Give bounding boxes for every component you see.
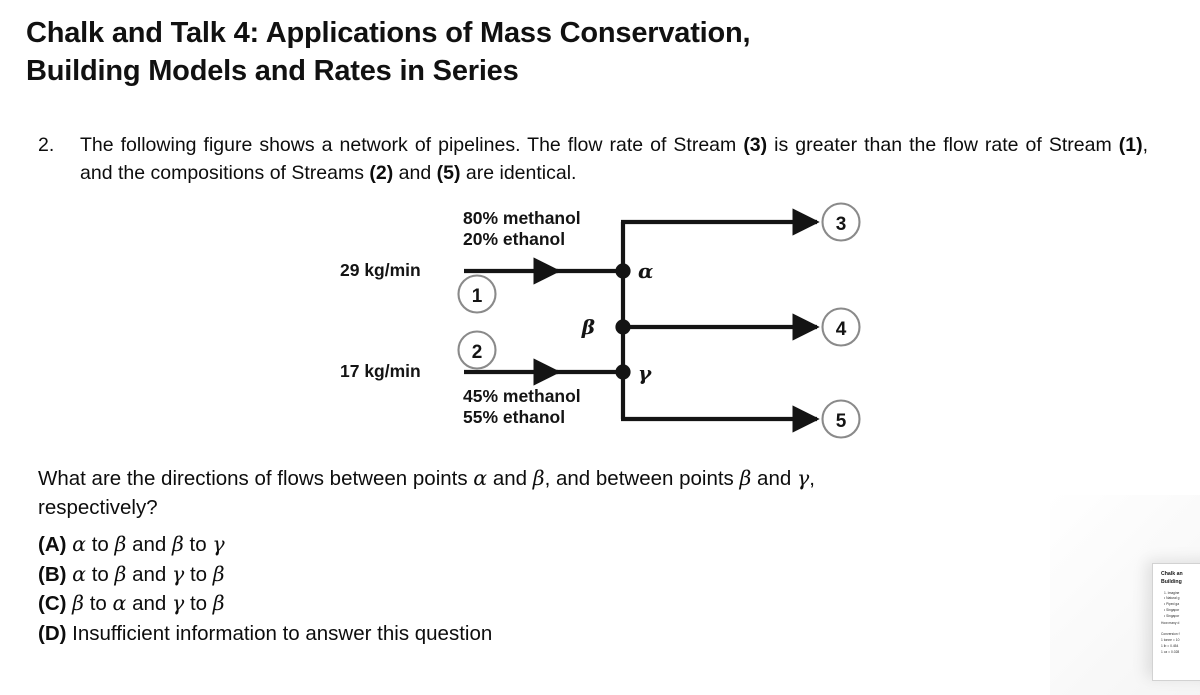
thumbnail-conversion-line: 1 oz = 0.028 xyxy=(1161,649,1200,655)
option-c-greek-2: α xyxy=(113,591,127,615)
thumbnail-bullet-list: 1. Imagine • Natural g • Piped ga • Sing… xyxy=(1161,591,1200,620)
question-stem-part-5: are identical. xyxy=(460,162,576,184)
option-b-greek-1: α xyxy=(72,562,86,586)
prompt-alpha: α xyxy=(473,466,487,490)
option-c-mid-3: to xyxy=(184,592,213,615)
option-b-mid-1: to xyxy=(86,563,115,586)
thumbnail-title-line-1: Chalk an xyxy=(1161,571,1200,579)
question-stem-part-2: is greater than the flow rate of Stream xyxy=(767,134,1119,156)
thumbnail-question-line: How many d xyxy=(1161,621,1200,625)
question-block: 2. The following figure shows a network … xyxy=(38,131,1148,188)
prompt-text-a: What are the directions of flows between… xyxy=(38,467,473,490)
option-a-greek-3: β xyxy=(172,532,184,556)
inlet-top-composition-line-1: 80% methanol xyxy=(463,208,581,229)
question-prompt-line-1: What are the directions of flows between… xyxy=(38,464,1146,493)
stream-marker-2: 2 xyxy=(459,332,496,369)
prompt-text-d: and xyxy=(751,467,797,490)
next-slide-thumbnail[interactable]: Chalk an Building 1. Imagine • Natural g… xyxy=(1152,563,1200,681)
option-b-greek-2: β xyxy=(115,562,127,586)
answer-option-d[interactable]: (D) Insufficient information to answer t… xyxy=(38,619,738,649)
prompt-beta-2: β xyxy=(740,466,752,490)
answer-option-c[interactable]: (C) β to α and γ to β xyxy=(38,589,738,619)
option-c-greek-3: γ xyxy=(172,591,184,615)
stream-marker-1: 1 xyxy=(459,276,496,313)
prompt-text-c: , and between points xyxy=(545,467,740,490)
stream-2-label: 2 xyxy=(472,342,483,363)
inlet-top-composition: 80% methanol 20% ethanol xyxy=(463,208,581,251)
stream-1-label: 1 xyxy=(472,286,483,307)
thumbnail-list-item: • Singapor xyxy=(1164,614,1200,620)
answer-options: (A) α to β and β to γ (B) α to β and γ t… xyxy=(38,530,738,648)
option-a-greek-1: α xyxy=(72,532,86,556)
answer-option-b[interactable]: (B) α to β and γ to β xyxy=(38,560,738,590)
junction-node-gamma xyxy=(615,364,630,379)
junction-label-beta: β xyxy=(581,315,595,339)
option-c-tag: (C) xyxy=(38,592,66,615)
option-c-mid-2: and xyxy=(126,592,172,615)
thumbnail-title-line-2: Building xyxy=(1161,579,1200,587)
inlet-top-composition-line-2: 20% ethanol xyxy=(463,229,581,250)
junction-node-beta xyxy=(615,319,630,334)
question-prompt-line-2: respectively? xyxy=(38,493,1146,522)
inlet-top-flow-rate: 29 kg/min xyxy=(340,260,421,281)
question-prompt: What are the directions of flows between… xyxy=(38,464,1146,522)
option-a-greek-4: γ xyxy=(212,532,224,556)
option-b-greek-3: γ xyxy=(172,562,184,586)
option-b-tag: (B) xyxy=(38,563,66,586)
pipeline-diagram-svg: α β γ 1 2 3 4 5 xyxy=(320,196,880,446)
option-a-greek-2: β xyxy=(115,532,127,556)
answer-option-a[interactable]: (A) α to β and β to γ xyxy=(38,530,738,560)
stream-marker-4: 4 xyxy=(823,309,860,346)
junction-label-alpha: α xyxy=(638,259,653,283)
option-a-mid-1: to xyxy=(86,533,115,556)
prompt-beta: β xyxy=(533,466,545,490)
option-a-mid-3: to xyxy=(184,533,213,556)
stream-marker-5: 5 xyxy=(823,401,860,438)
inlet-bottom-composition-line-2: 55% ethanol xyxy=(463,407,581,428)
option-c-greek-4: β xyxy=(213,591,225,615)
question-stream-1-ref: (1) xyxy=(1119,134,1143,156)
prompt-text-e: , xyxy=(809,467,815,490)
stream-3-label: 3 xyxy=(836,214,847,235)
question-stream-5-ref: (5) xyxy=(437,162,461,184)
option-b-mid-3: to xyxy=(184,563,213,586)
option-b-greek-4: β xyxy=(213,562,225,586)
slide-title: Chalk and Talk 4: Applications of Mass C… xyxy=(26,14,1006,91)
question-row: 2. The following figure shows a network … xyxy=(38,131,1148,188)
question-stem-part-4: and xyxy=(393,162,436,184)
option-b-mid-2: and xyxy=(126,563,172,586)
option-c-mid-1: to xyxy=(84,592,113,615)
prompt-gamma: γ xyxy=(797,466,809,490)
inlet-bottom-composition-line-1: 45% methanol xyxy=(463,386,581,407)
slide-title-line-2: Building Models and Rates in Series xyxy=(26,52,1006,90)
inlet-bottom-flow-rate: 17 kg/min xyxy=(340,361,421,382)
thumbnail-conversion-block: Conversion f 1 tonne = 10 1 lb = 0.454 1… xyxy=(1161,631,1200,655)
option-a-mid-2: and xyxy=(126,533,172,556)
option-d-tag: (D) xyxy=(38,622,66,645)
stream-5-label: 5 xyxy=(836,411,847,432)
option-a-tag: (A) xyxy=(38,533,66,556)
junction-label-gamma: γ xyxy=(638,361,652,385)
junction-node-alpha xyxy=(615,263,630,278)
pipeline-network-diagram: α β γ 1 2 3 4 5 80% methanol 20% ethanol xyxy=(320,196,880,446)
slide-title-line-1: Chalk and Talk 4: Applications of Mass C… xyxy=(26,14,1006,52)
question-stream-3-ref: (3) xyxy=(743,134,767,156)
option-c-greek-1: β xyxy=(72,591,84,615)
option-d-plain: Insufficient information to answer this … xyxy=(66,622,492,645)
question-stem-part-1: The following figure shows a network of … xyxy=(80,134,743,156)
trunk-and-branches xyxy=(621,222,817,419)
inlet-bottom-composition: 45% methanol 55% ethanol xyxy=(463,386,581,429)
question-number: 2. xyxy=(38,131,80,159)
stream-4-label: 4 xyxy=(836,319,847,340)
stream-marker-3: 3 xyxy=(823,204,860,241)
prompt-text-b: and xyxy=(487,467,533,490)
question-stream-2-ref: (2) xyxy=(369,162,393,184)
question-text: The following figure shows a network of … xyxy=(80,131,1148,188)
